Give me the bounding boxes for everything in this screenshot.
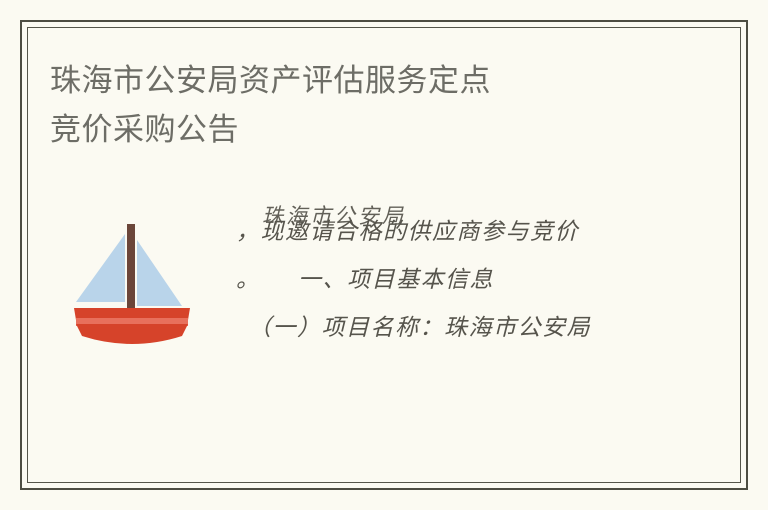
- card-content: 珠海市公安局资产评估服务定点 竞价采购公告 珠海市公安局 采用定点竞价方: [28, 28, 740, 482]
- page-title-line-2: 竞价采购公告: [50, 105, 660, 154]
- announcement-body-text: 珠海市公安局 采用定点竞价方式实施本次采购 ，现邀请合格的供应商参与竞价 。 一…: [236, 204, 664, 352]
- body-line-4: （一）项目名称：珠海市公安局: [236, 304, 664, 352]
- body-line-3: 。 一、项目基本信息: [236, 256, 664, 304]
- page-title: 珠海市公安局资产评估服务定点 竞价采购公告: [50, 56, 660, 154]
- announcement-body-viewport[interactable]: 珠海市公安局 采用定点竞价方式实施本次采购 ，现邀请合格的供应商参与竞价 。 一…: [236, 204, 664, 482]
- body-line-clipped: 珠海市公安局: [262, 204, 406, 240]
- page-title-line-1: 珠海市公安局资产评估服务定点: [50, 56, 660, 105]
- announcement-card: 珠海市公安局资产评估服务定点 竞价采购公告 珠海市公安局 采用定点竞价方: [0, 0, 768, 510]
- sailboat-icon: [70, 218, 194, 346]
